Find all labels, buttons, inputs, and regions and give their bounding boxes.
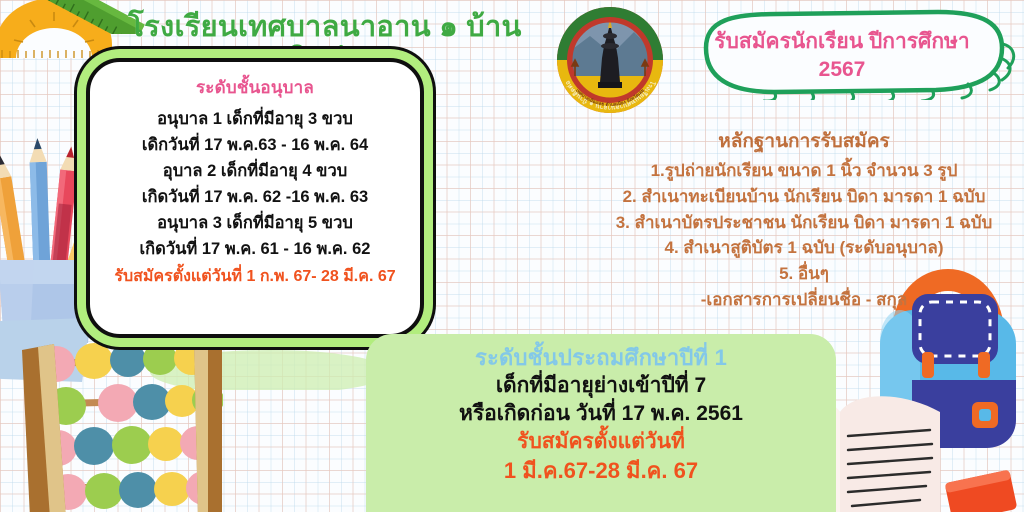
abacus-icon [8, 338, 223, 512]
primary-application-label: รับสมัครตั้งแต่วันที่ [366, 428, 836, 456]
blue-paper-icon [0, 318, 92, 388]
admission-year-badge: รับสมัครนักเรียน ปีการศึกษา 2567 [692, 8, 1022, 100]
document-item-3: 3. สำเนาบัตรประชาชน นักเรียน บิดา มารดา … [586, 210, 1022, 236]
required-documents-section: หลักฐานการรับสมัคร 1.รูปถ่ายนักเรียน ขนา… [586, 126, 1022, 313]
primary-grade-info-panel: ระดับชั้นประถมศึกษาปีที่ 1 เด็กที่มีอายุ… [366, 334, 836, 512]
document-item-6: -เอกสารการเปลี่ยนชื่อ - สกุล [586, 287, 1022, 313]
kindergarten-line-3: อุบาล 2 เด็กที่มีอายุ 4 ขวบ [98, 158, 412, 184]
document-item-5: 5. อื่นๆ [586, 261, 1022, 287]
documents-heading: หลักฐานการรับสมัคร [586, 126, 1022, 156]
document-item-4: 4. สำเนาสูติบัตร 1 ฉบับ (ระดับอนุบาล) [586, 235, 1022, 261]
badge-line-2: 2567 [692, 56, 992, 84]
primary-application-dates: 1 มี.ค.67-28 มี.ค. 67 [366, 456, 836, 485]
protractor-icon [0, 0, 114, 66]
badge-text-block: รับสมัครนักเรียน ปีการศึกษา 2567 [692, 28, 992, 83]
green-smudge-decoration [150, 330, 390, 390]
kindergarten-line-2: เดิกวันที่ 17 พ.ค.63 - 16 พ.ค. 64 [98, 132, 412, 158]
primary-heading: ระดับชั้นประถมศึกษาปีที่ 1 [366, 344, 836, 372]
primary-line-1: เด็กที่มีอายุย่างเข้าปีที่ 7 [366, 372, 836, 400]
document-item-1: 1.รูปถ่ายนักเรียน ขนาด 1 นิ้ว จำนวน 3 รู… [586, 158, 1022, 184]
poster-canvas: โรงเรียนเทศบาลนาอาน ๑ บ้านติดต่อ เทศบาลเ… [0, 0, 1024, 512]
kindergarten-line-4: เกิดวันที่ 17 พ.ค. 62 -16 พ.ค. 63 [98, 184, 412, 210]
red-book-icon [938, 454, 1018, 512]
kindergarten-application-period: รับสมัครตั้งแต่วันที่ 1 ก.พ. 67- 28 มี.ค… [98, 264, 412, 289]
kindergarten-line-5: อนุบาล 3 เด็กที่มีอายุ 5 ขวบ [98, 210, 412, 236]
document-item-2: 2. สำเนาทะเบียนบ้าน นักเรียน บิดา มารดา … [586, 184, 1022, 210]
school-seal-icon: โรงเรียนเทศบาลนาอาน ๑ บ้านติดต่อ เทศบาลเ… [556, 6, 664, 114]
kindergarten-line-1: อนุบาล 1 เด็กที่มีอายุ 3 ขวบ [98, 106, 412, 132]
kindergarten-line-6: เกิดวันที่ 17 พ.ค. 61 - 16 พ.ค. 62 [98, 236, 412, 262]
primary-line-2: หรือเกิดก่อน วันที่ 17 พ.ค. 2561 [366, 400, 836, 428]
badge-line-1: รับสมัครนักเรียน ปีการศึกษา [692, 28, 992, 56]
kindergarten-info-box: ระดับชั้นอนุบาล อนุบาล 1 เด็กที่มีอายุ 3… [86, 58, 424, 338]
kindergarten-heading: ระดับชั้นอนุบาล [98, 74, 412, 101]
